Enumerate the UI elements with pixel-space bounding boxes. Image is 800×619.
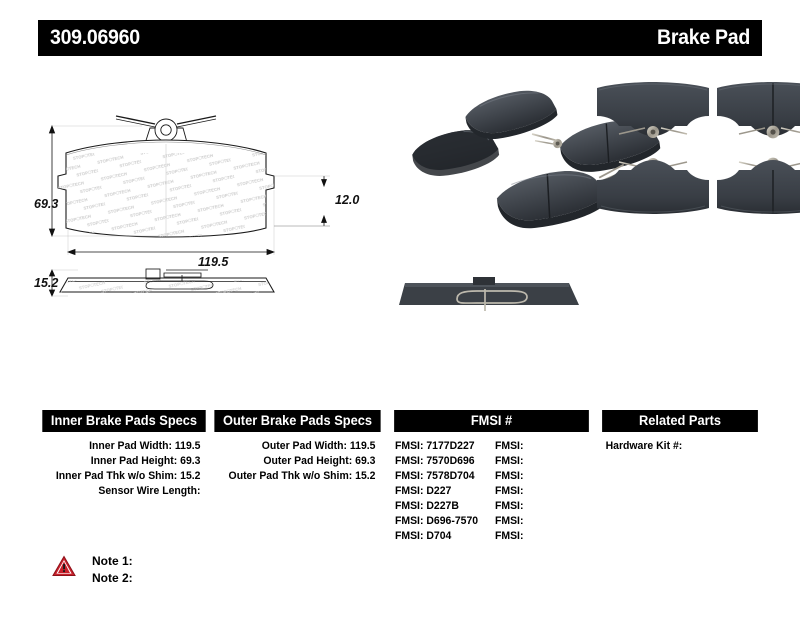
spec-row: Inner Pad Width: 119.5 xyxy=(47,439,210,454)
fmsi-row: FMSI: 7578D704 xyxy=(395,469,490,484)
brake-pad-line-drawing: STOP TECH STOP TECH xyxy=(38,100,388,350)
product-photo-group xyxy=(395,70,765,350)
fmsi-label: FMSI: xyxy=(495,530,523,542)
fmsi-value: 7177D227 xyxy=(426,440,474,452)
notes-text-block: Note 1: Note 2: xyxy=(92,553,133,587)
fmsi-row: FMSI: D696-7570 xyxy=(395,514,490,529)
spec-row: Outer Pad Height: 69.3 xyxy=(219,454,385,469)
column-body-related-parts: Hardware Kit #: xyxy=(598,432,762,454)
fmsi-label: FMSI: xyxy=(495,500,523,512)
column-header-outer-specs: Outer Brake Pads Specs xyxy=(214,410,380,432)
page-title: Brake Pad xyxy=(657,26,750,50)
spec-label: Inner Pad Width: xyxy=(89,440,172,452)
spec-label: Inner Pad Thk w/o Shim: xyxy=(56,470,177,482)
spec-label: Outer Pad Thk w/o Shim: xyxy=(229,470,353,482)
fmsi-label: FMSI: xyxy=(495,455,523,467)
fmsi-value: 7570D696 xyxy=(426,455,474,467)
pad-friction-surface xyxy=(38,100,388,350)
note-line-2: Note 2: xyxy=(92,570,133,587)
column-body-outer-specs: Outer Pad Width: 119.5 Outer Pad Height:… xyxy=(210,432,385,484)
pad-side-view xyxy=(38,269,388,298)
spec-label: Outer Pad Width: xyxy=(262,440,347,452)
fmsi-row: FMSI: xyxy=(495,529,590,544)
column-fmsi: FMSI # FMSI: 7177D227 FMSI: 7570D696 FMS… xyxy=(389,410,594,544)
fmsi-row: FMSI: xyxy=(495,514,590,529)
spec-row: Outer Pad Thk w/o Shim: 15.2 xyxy=(219,469,385,484)
related-label: Hardware Kit #: xyxy=(606,440,683,452)
fmsi-row: FMSI: D704 xyxy=(395,529,490,544)
notes-section: Note 1: Note 2: xyxy=(52,553,133,587)
column-header-fmsi: FMSI # xyxy=(394,410,589,432)
fmsi-row: FMSI: 7570D696 xyxy=(395,454,490,469)
spec-label: Inner Pad Height: xyxy=(91,455,178,467)
fmsi-left-list: FMSI: 7177D227 FMSI: 7570D696 FMSI: 7578… xyxy=(395,439,495,544)
column-body-fmsi: FMSI: 7177D227 FMSI: 7570D696 FMSI: 7578… xyxy=(389,432,594,544)
fmsi-row: FMSI: xyxy=(495,469,590,484)
technical-drawing: STOP TECH STOP TECH xyxy=(38,100,388,350)
fmsi-row: FMSI: xyxy=(495,454,590,469)
column-header-inner-specs: Inner Brake Pads Specs xyxy=(42,410,205,432)
related-row: Hardware Kit #: xyxy=(598,439,754,454)
fmsi-label: FMSI: xyxy=(495,485,523,497)
spec-value: 15.2 xyxy=(180,470,200,482)
spec-label: Sensor Wire Length: xyxy=(98,485,200,497)
column-inner-specs: Inner Brake Pads Specs Inner Pad Width: … xyxy=(38,410,210,544)
fmsi-row: FMSI: D227B xyxy=(395,499,490,514)
spec-value: 69.3 xyxy=(180,455,200,467)
spec-label: Outer Pad Height: xyxy=(263,455,352,467)
spec-row: Sensor Wire Length: xyxy=(47,484,210,499)
fmsi-label: FMSI: xyxy=(495,515,523,527)
fmsi-value: D696-7570 xyxy=(426,515,478,527)
fmsi-right-list: FMSI: FMSI: FMSI: FMSI: xyxy=(495,439,595,544)
dim-label-thickness-shim: 15.2 xyxy=(34,276,58,290)
fmsi-row: FMSI: xyxy=(495,439,590,454)
column-body-inner-specs: Inner Pad Width: 119.5 Inner Pad Height:… xyxy=(38,432,210,499)
warning-triangle-icon xyxy=(52,555,76,577)
product-photos xyxy=(395,70,765,350)
dim-label-height: 69.3 xyxy=(34,197,58,211)
fmsi-value: D227 xyxy=(426,485,451,497)
fmsi-label: FMSI: xyxy=(395,440,423,452)
dimension-thickness-12-0 xyxy=(274,176,330,226)
fmsi-label: FMSI: xyxy=(395,485,423,497)
spec-value: 119.5 xyxy=(350,440,376,452)
spec-row: Inner Pad Height: 69.3 xyxy=(47,454,210,469)
fmsi-label: FMSI: xyxy=(495,440,523,452)
column-outer-specs: Outer Brake Pads Specs Outer Pad Width: … xyxy=(210,410,385,544)
dim-label-width: 119.5 xyxy=(198,255,228,269)
dim-label-thickness: 12.0 xyxy=(335,193,359,207)
part-number: 309.06960 xyxy=(50,26,140,50)
column-header-related-parts: Related Parts xyxy=(602,410,758,432)
fmsi-label: FMSI: xyxy=(395,515,423,527)
fmsi-row: FMSI: 7177D227 xyxy=(395,439,490,454)
photo-side-profile-pad xyxy=(399,277,579,311)
fmsi-label: FMSI: xyxy=(495,470,523,482)
fmsi-value: D704 xyxy=(426,530,451,542)
fmsi-value: 7578D704 xyxy=(426,470,474,482)
fmsi-value: D227B xyxy=(426,500,459,512)
fmsi-label: FMSI: xyxy=(395,500,423,512)
fmsi-row: FMSI: xyxy=(495,499,590,514)
note-line-1: Note 1: xyxy=(92,553,133,570)
fmsi-row: FMSI: xyxy=(495,484,590,499)
fmsi-label: FMSI: xyxy=(395,455,423,467)
spec-value: 119.5 xyxy=(175,440,201,452)
spec-value: 69.3 xyxy=(355,455,375,467)
spec-value: 15.2 xyxy=(355,470,375,482)
column-related-parts: Related Parts Hardware Kit #: xyxy=(598,410,762,544)
page-header-bar: 309.06960 Brake Pad xyxy=(38,20,762,56)
fmsi-row: FMSI: D227 xyxy=(395,484,490,499)
fmsi-label: FMSI: xyxy=(395,530,423,542)
spec-row: Inner Pad Thk w/o Shim: 15.2 xyxy=(47,469,210,484)
spec-row: Outer Pad Width: 119.5 xyxy=(219,439,385,454)
fmsi-label: FMSI: xyxy=(395,470,423,482)
specs-table: Inner Brake Pads Specs Inner Pad Width: … xyxy=(38,410,762,544)
